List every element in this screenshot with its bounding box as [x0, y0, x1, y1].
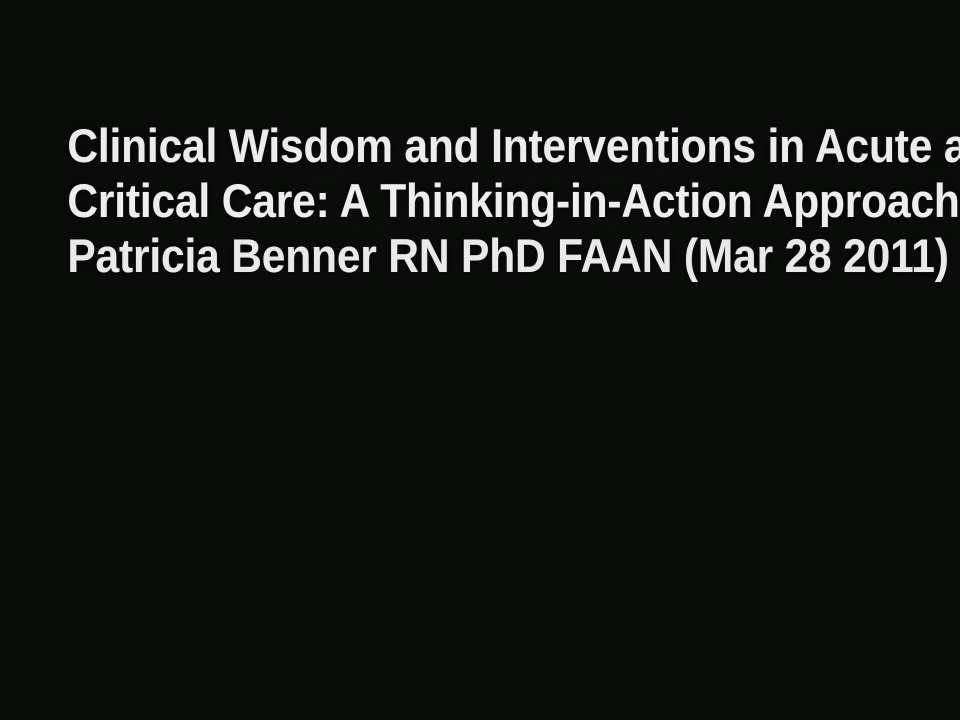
- title-line-3: Patricia Benner RN PhD FAAN (Mar 28 2011…: [67, 228, 892, 283]
- background-noise-overlay: [0, 0, 960, 720]
- title-line-1: Clinical Wisdom and Interventions in Acu…: [67, 118, 892, 173]
- page-title: Clinical Wisdom and Interventions in Acu…: [0, 118, 960, 283]
- title-card-screen: Clinical Wisdom and Interventions in Acu…: [0, 0, 960, 720]
- title-line-2: Critical Care: A Thinking-in-Action Appr…: [67, 173, 892, 228]
